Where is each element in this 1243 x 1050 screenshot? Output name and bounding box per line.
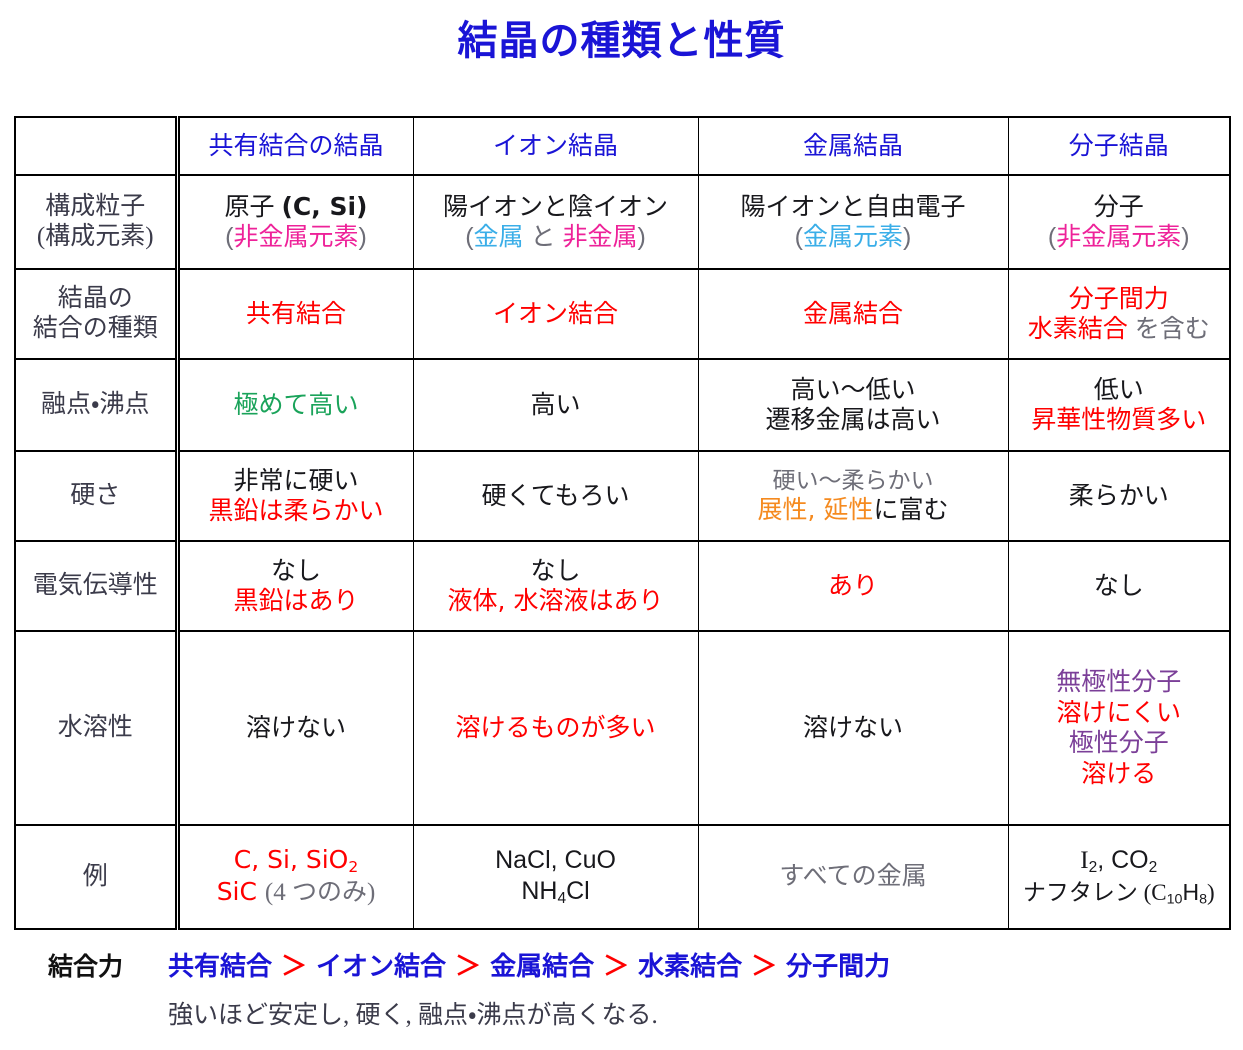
- cell-examples-molecular: I2, CO2 ナフタレン (C10H8): [1008, 825, 1230, 929]
- header-metallic: 金属結晶: [698, 117, 1008, 175]
- row-label-constituent-particles: 構成粒子 (構成元素): [15, 175, 177, 269]
- cell-mp-metallic: 高い〜低い 遷移金属は高い: [698, 359, 1008, 451]
- header-covalent: 共有結合の結晶: [177, 117, 413, 175]
- cell-particles-covalent: 原子 (C, Si) (非金属元素): [177, 175, 413, 269]
- crystal-properties-table: 共有結合の結晶 イオン結晶 金属結晶 分子結晶 構成粒子 (構成元素) 原子 (…: [14, 116, 1231, 930]
- cell-conductivity-covalent: なし 黒鉛はあり: [177, 541, 413, 631]
- cell-conductivity-metallic: あり: [698, 541, 1008, 631]
- row-label-bond-type: 結晶の 結合の種類: [15, 269, 177, 359]
- crystal-table-wrapper: 共有結合の結晶 イオン結晶 金属結晶 分子結晶 構成粒子 (構成元素) 原子 (…: [14, 116, 1229, 930]
- page-title: 結晶の種類と性質: [0, 8, 1243, 66]
- row-label-melting-boiling-point: 融点・沸点: [15, 359, 177, 451]
- cell-hardness-ionic: 硬くてもろい: [413, 451, 698, 541]
- chain-separator-icon: ＞: [455, 952, 481, 982]
- cell-examples-metallic: すべての金属: [698, 825, 1008, 929]
- table-row: 水溶性 溶けない 溶けるものが多い 溶けない 無極性分子 溶けにくい 極性分子 …: [15, 631, 1230, 825]
- cell-hardness-metallic: 硬い〜柔らかい 展性, 延性に富む: [698, 451, 1008, 541]
- chain-separator-icon: ＞: [603, 952, 629, 982]
- cell-bond-covalent: 共有結合: [177, 269, 413, 359]
- cell-conductivity-molecular: なし: [1008, 541, 1230, 631]
- cell-solubility-covalent: 溶けない: [177, 631, 413, 825]
- table-row: 融点・沸点 極めて高い 高い 高い〜低い 遷移金属は高い 低い 昇華性物質多い: [15, 359, 1230, 451]
- page-root: 結晶の種類と性質 共有結合の結晶 イオン結晶 金属結晶 分子結晶 構成粒子 (構…: [0, 0, 1243, 1050]
- header-corner-cell: [15, 117, 177, 175]
- cell-particles-ionic: 陽イオンと陰イオン (金属 と 非金属): [413, 175, 698, 269]
- chain-separator-icon: ＞: [281, 952, 307, 982]
- cell-hardness-molecular: 柔らかい: [1008, 451, 1230, 541]
- table-row: 構成粒子 (構成元素) 原子 (C, Si) (非金属元素) 陽イオンと陰イオン…: [15, 175, 1230, 269]
- table-row: 電気伝導性 なし 黒鉛はあり なし 液体, 水溶液はあり あり なし: [15, 541, 1230, 631]
- bond-strength-label: 結合力: [48, 947, 168, 983]
- table-row: 硬さ 非常に硬い 黒鉛は柔らかい 硬くてもろい 硬い〜柔らかい 展性, 延性に富…: [15, 451, 1230, 541]
- cell-particles-molecular: 分子 (非金属元素): [1008, 175, 1230, 269]
- chain-separator-icon: ＞: [751, 952, 777, 982]
- cell-bond-ionic: イオン結合: [413, 269, 698, 359]
- chain-item-2: 金属結合: [490, 952, 594, 982]
- cell-mp-covalent: 極めて高い: [177, 359, 413, 451]
- header-molecular: 分子結晶: [1008, 117, 1230, 175]
- cell-solubility-ionic: 溶けるものが多い: [413, 631, 698, 825]
- cell-bond-metallic: 金属結合: [698, 269, 1008, 359]
- header-ionic: イオン結晶: [413, 117, 698, 175]
- chain-item-1: イオン結合: [316, 952, 446, 982]
- bond-strength-chain: 共有結合＞イオン結合＞金属結合＞水素結合＞分子間力: [168, 946, 890, 983]
- bond-strength-row: 結合力 共有結合＞イオン結合＞金属結合＞水素結合＞分子間力: [0, 946, 1243, 983]
- chain-item-3: 水素結合: [638, 952, 742, 982]
- chain-item-4: 分子間力: [786, 952, 890, 982]
- footer-section: 結合力 共有結合＞イオン結合＞金属結合＞水素結合＞分子間力 強いほど安定し, 硬…: [0, 946, 1243, 1031]
- row-label-solubility: 水溶性: [15, 631, 177, 825]
- cell-bond-molecular: 分子間力 水素結合 を含む: [1008, 269, 1230, 359]
- table-row: 例 C, Si, SiO2 SiC (4 つのみ) NaCl, CuO NH4C…: [15, 825, 1230, 929]
- footer-note: 強いほど安定し, 硬く, 融点・沸点が高くなる.: [0, 995, 1243, 1031]
- cell-examples-ionic: NaCl, CuO NH4Cl: [413, 825, 698, 929]
- cell-mp-molecular: 低い 昇華性物質多い: [1008, 359, 1230, 451]
- cell-conductivity-ionic: なし 液体, 水溶液はあり: [413, 541, 698, 631]
- row-label-hardness: 硬さ: [15, 451, 177, 541]
- chain-item-0: 共有結合: [168, 952, 272, 982]
- table-row: 結晶の 結合の種類 共有結合 イオン結合 金属結合 分子間力 水素結合 を含む: [15, 269, 1230, 359]
- cell-examples-covalent: C, Si, SiO2 SiC (4 つのみ): [177, 825, 413, 929]
- cell-hardness-covalent: 非常に硬い 黒鉛は柔らかい: [177, 451, 413, 541]
- cell-mp-ionic: 高い: [413, 359, 698, 451]
- cell-solubility-molecular: 無極性分子 溶けにくい 極性分子 溶ける: [1008, 631, 1230, 825]
- row-label-examples: 例: [15, 825, 177, 929]
- cell-solubility-metallic: 溶けない: [698, 631, 1008, 825]
- table-header-row: 共有結合の結晶 イオン結晶 金属結晶 分子結晶: [15, 117, 1230, 175]
- row-label-conductivity: 電気伝導性: [15, 541, 177, 631]
- cell-particles-metallic: 陽イオンと自由電子 (金属元素): [698, 175, 1008, 269]
